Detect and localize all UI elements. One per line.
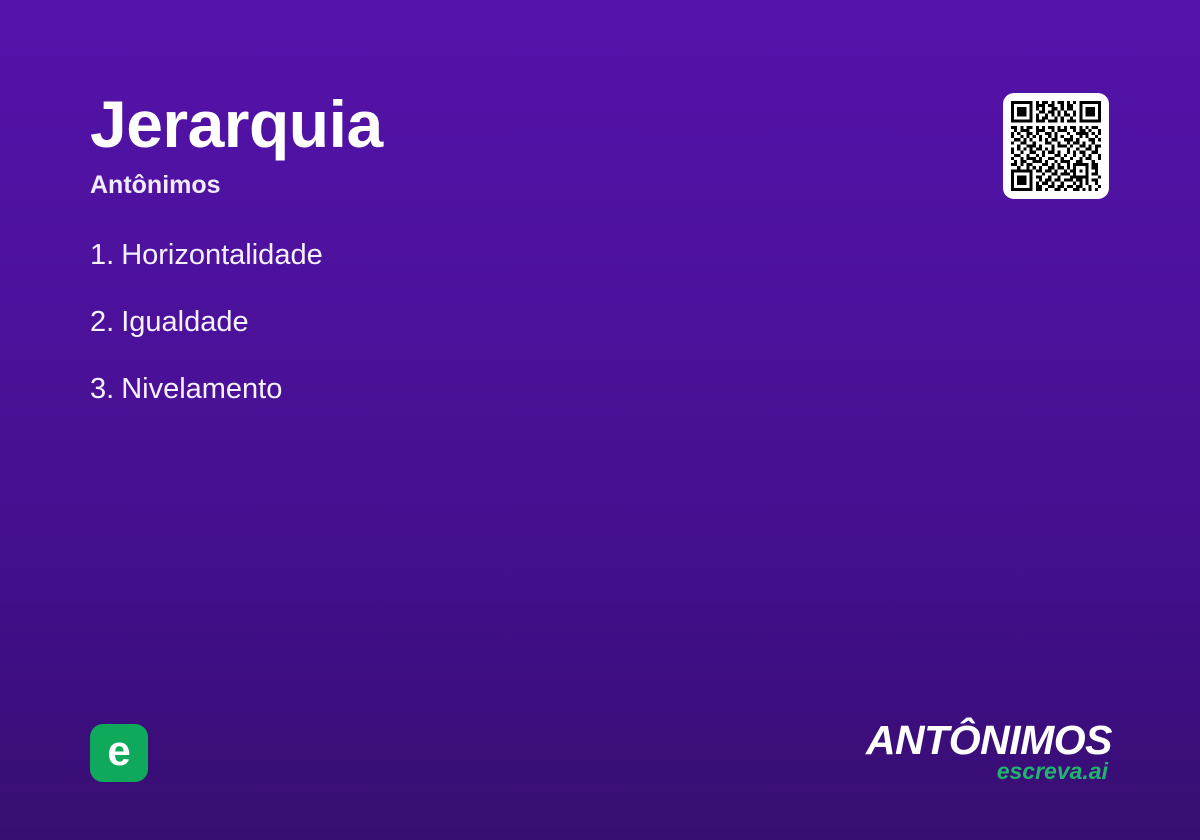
- list-item-label: Nivelamento: [121, 373, 282, 405]
- qr-code-icon: [1011, 101, 1101, 191]
- page-title: Jerarquia: [90, 88, 383, 160]
- list-item-index: 2.: [90, 305, 114, 339]
- antonym-list: 1.Horizontalidade 2.Igualdade 3.Nivelame…: [90, 238, 323, 439]
- escreva-badge-letter: e: [107, 730, 130, 772]
- brand-lockup: ANTÔNIMOS escreva.ai: [866, 718, 1112, 784]
- qr-code-container[interactable]: [1003, 93, 1109, 199]
- list-item-label: Igualdade: [121, 306, 248, 338]
- list-item-index: 3.: [90, 372, 114, 406]
- escreva-badge[interactable]: e: [90, 724, 148, 782]
- page-subtitle: Antônimos: [90, 170, 221, 200]
- list-item-label: Horizontalidade: [121, 239, 323, 271]
- list-item: 2.Igualdade: [90, 305, 323, 339]
- list-item: 3.Nivelamento: [90, 372, 323, 406]
- list-item: 1.Horizontalidade: [90, 238, 323, 272]
- list-item-index: 1.: [90, 238, 114, 272]
- brand-lockup-title: ANTÔNIMOS: [866, 718, 1112, 762]
- antonym-card: Jerarquia Antônimos 1.Horizontalidade 2.…: [0, 0, 1200, 840]
